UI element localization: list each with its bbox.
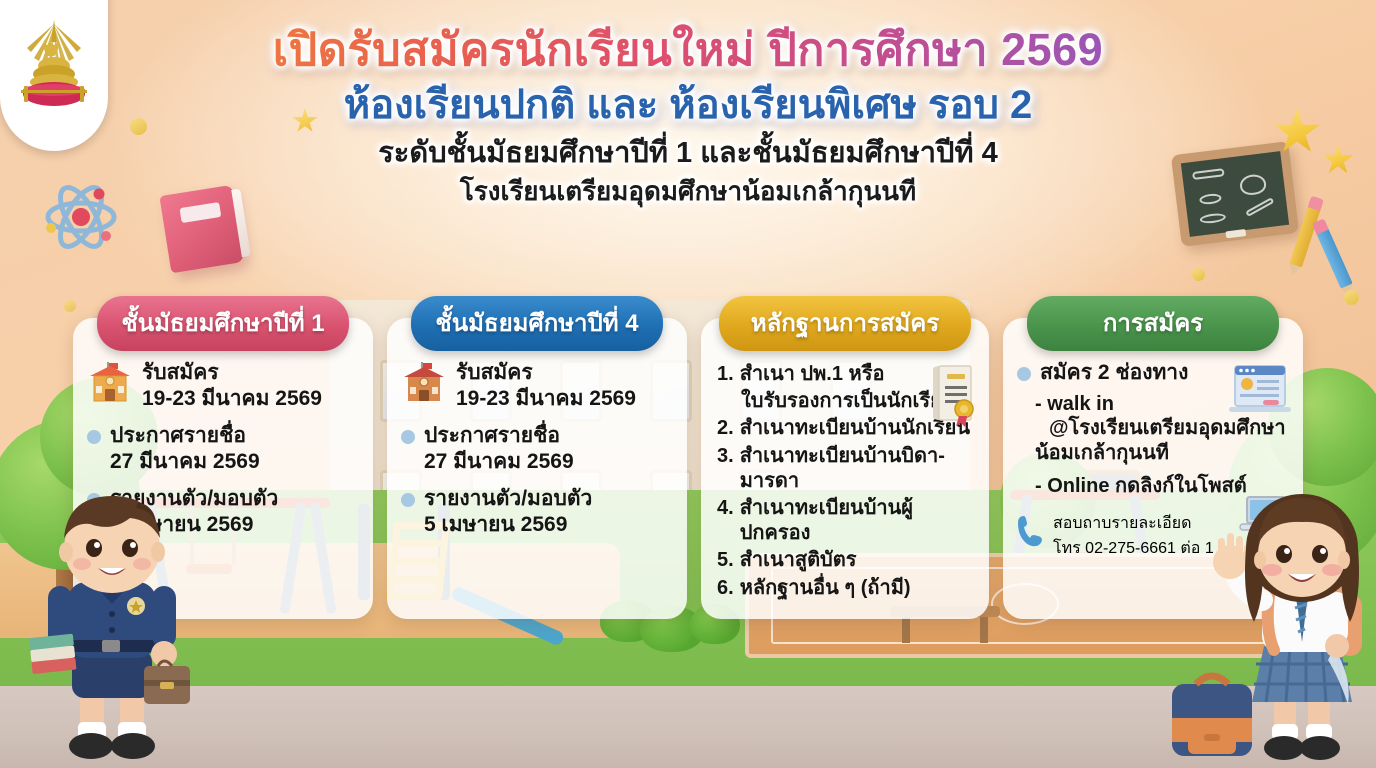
document-item: 6.หลักฐานอื่น ๆ (ถ้ามี) [717, 576, 977, 601]
card-m4-row-report: รายงานตัว/มอบตัว 5 เมษายน 2569 [401, 486, 675, 537]
card-documents: หลักฐานการสมัคร 1.สำเนา ปพ.1 หรือ ใบรับร… [701, 318, 989, 619]
girl-student-character [1166, 488, 1366, 768]
decor-dot [1192, 268, 1205, 281]
poster-headline: เปิดรับสมัครนักเรียนใหม่ ปีการศึกษา 2569… [0, 24, 1376, 207]
apply-channel-walkin-detail: @โรงเรียนเตรียมอุดมศึกษา [1049, 416, 1291, 441]
chalk-eraser [1225, 229, 1246, 238]
card-apply-header: การสมัคร [1027, 296, 1279, 351]
phone-icon [1017, 514, 1045, 548]
document-item: 5.สำเนาสูติบัตร [717, 548, 977, 573]
laptop-form-icon [1227, 364, 1295, 420]
card-documents-header: หลักฐานการสมัคร [719, 296, 971, 351]
school-name-text: โรงเรียนเตรียมอุดมศึกษาน้อมเกล้ากุนนที [0, 176, 1376, 207]
school-icon [401, 362, 447, 404]
card-m4-row-announce: ประกาศรายชื่อ 27 มีนาคม 2569 [401, 423, 675, 474]
decor-dot [1344, 290, 1359, 305]
poster-canvas: เปิดรับสมัครนักเรียนใหม่ ปีการศึกษา 2569… [0, 0, 1376, 768]
school-icon [87, 362, 133, 404]
card-m1-header: ชั้นมัธยมศึกษาปีที่ 1 [97, 296, 349, 351]
pencil-icon [1312, 218, 1353, 289]
card-m4-application-text: รับสมัคร 19-23 มีนาคม 2569 [456, 360, 636, 411]
card-m1-row-application: รับสมัคร 19-23 มีนาคม 2569 [87, 360, 361, 411]
page-title: เปิดรับสมัครนักเรียนใหม่ ปีการศึกษา 2569 [0, 24, 1376, 76]
grade-levels-text: ระดับชั้นมัธยมศึกษาปีที่ 1 และชั้นมัธยมศ… [0, 136, 1376, 171]
card-m4-header: ชั้นมัธยมศึกษาปีที่ 4 [411, 296, 663, 351]
page-subtitle: ห้องเรียนปกติ และ ห้องเรียนพิเศษ รอบ 2 [0, 82, 1376, 128]
decor-dot [64, 300, 76, 312]
apply-main-label: สมัคร 2 ช่องทาง [1040, 360, 1188, 386]
card-m4-row-application: รับสมัคร 19-23 มีนาคม 2569 [401, 360, 675, 411]
certificate-icon [921, 362, 983, 428]
boy-student-character [18, 490, 208, 768]
bullet-icon [401, 430, 415, 444]
card-m4-report-text: รายงานตัว/มอบตัว 5 เมษายน 2569 [424, 486, 592, 537]
bench-leg [902, 617, 910, 643]
card-m1-row-announce: ประกาศรายชื่อ 27 มีนาคม 2569 [87, 423, 361, 474]
bench-leg [980, 617, 988, 643]
card-m1-application-text: รับสมัคร 19-23 มีนาคม 2569 [142, 360, 322, 411]
bullet-icon [87, 430, 101, 444]
card-m1-announce-text: ประกาศรายชื่อ 27 มีนาคม 2569 [110, 423, 260, 474]
card-m4: ชั้นมัธยมศึกษาปีที่ 4 รับสมัค [387, 318, 687, 619]
bullet-icon [401, 493, 415, 507]
document-item: 4.สำเนาทะเบียนบ้านผู้ปกครอง [717, 496, 977, 546]
bullet-icon [1017, 367, 1031, 381]
pencil-tip [1286, 263, 1301, 277]
document-item: 3.สำเนาทะเบียนบ้านบิดา-มารดา [717, 444, 977, 494]
chalk-doodle [1199, 212, 1226, 224]
apply-channel-walkin-detail2: น้อมเกล้ากุนนที [1035, 441, 1291, 466]
card-m4-announce-text: ประกาศรายชื่อ 27 มีนาคม 2569 [424, 423, 574, 474]
